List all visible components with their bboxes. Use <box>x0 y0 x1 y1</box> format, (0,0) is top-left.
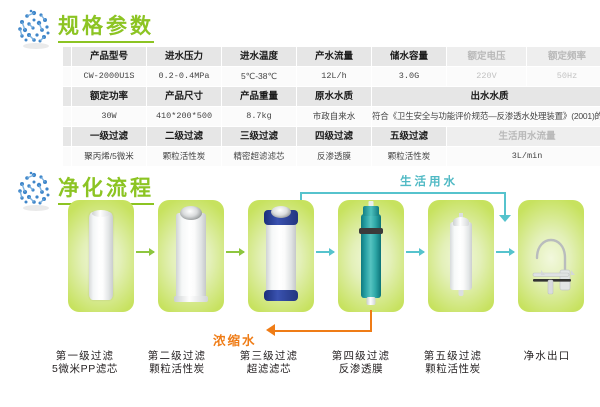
cell-weight-value: 8.7kg <box>222 107 297 127</box>
cell-temp-label: 进水温度 <box>222 47 297 67</box>
arrow-5-6 <box>496 251 514 253</box>
cell-rawwater-value: 市政自来水 <box>297 107 372 127</box>
table-row: 30W 410*200*500 8.7kg 市政自来水 符合《卫生安全与功能评价… <box>63 107 600 127</box>
cell-filter4-value: 反渗透膜 <box>297 147 372 167</box>
table-row: 产品型号 进水压力 进水温度 产水流量 储水容量 额定电压 额定频率 <box>63 47 600 67</box>
pp-cartridge-icon <box>89 212 113 300</box>
cell-voltage-value: 220V <box>447 67 527 87</box>
arrow-4-5 <box>406 251 424 253</box>
domestic-water-pipe-horizontal <box>300 192 506 194</box>
table-row: CW-2000U1S 0.2-0.4MPa 5℃-38℃ 12L/h 3.0G … <box>63 67 600 87</box>
cell-filter3-value: 精密超滤滤芯 <box>222 147 297 167</box>
table-row: 一级过滤 二级过滤 三级过滤 四级过滤 五级过滤 生活用水流量 <box>63 127 600 147</box>
cell-power-value: 30W <box>72 107 147 127</box>
table-row: 额定功率 产品尺寸 产品重量 原水水质 出水水质 <box>63 87 600 107</box>
concentrate-arrowhead <box>266 324 275 336</box>
cell-pressure-label: 进水压力 <box>147 47 222 67</box>
cell-capacity-label: 储水容量 <box>372 47 447 67</box>
cell-capacity-value: 3.0G <box>372 67 447 87</box>
spec-section-title: 规格参数 <box>58 15 154 42</box>
purification-flow-diagram: 生活用水 <box>0 165 600 407</box>
cell-filter2-value: 颗粒活性炭 <box>147 147 222 167</box>
cell-filter5-value: 颗粒活性炭 <box>372 147 447 167</box>
post-carbon-icon <box>450 222 472 290</box>
concentrate-water-label: 浓缩水 <box>213 330 257 349</box>
cell-flow-label: 产水流量 <box>297 47 372 67</box>
cell-pressure-value: 0.2-0.4MPa <box>147 67 222 87</box>
cell-filter3-label: 三级过滤 <box>222 127 297 147</box>
flow-stage-4[interactable] <box>338 200 404 312</box>
domestic-water-label: 生活用水 <box>400 173 458 189</box>
faucet-icon <box>527 218 575 296</box>
arrow-1-2 <box>136 251 154 253</box>
cell-filter4-label: 四级过滤 <box>297 127 372 147</box>
caption-stage-6: 净水出口 <box>492 350 600 363</box>
cell-outwater-value: 符合《卫生安全与功能评价规范—反渗透水处理装置》(2001)的要求 <box>372 107 600 127</box>
arrow-3-4 <box>316 251 334 253</box>
cell-flow-value: 12L/h <box>297 67 372 87</box>
cell-frequency-value: 50Hz <box>527 67 600 87</box>
cell-size-label: 产品尺寸 <box>147 87 222 107</box>
flow-stage-5[interactable] <box>428 200 494 312</box>
cell-temp-value: 5℃-38℃ <box>222 67 297 87</box>
cell-weight-label: 产品重量 <box>222 87 297 107</box>
table-row: 聚丙烯/5微米 颗粒活性炭 精密超滤滤芯 反渗透膜 颗粒活性炭 3L/min <box>63 147 600 167</box>
cell-outwater-label: 出水水质 <box>372 87 600 107</box>
flow-stage-6[interactable] <box>518 200 584 312</box>
ultrafilter-cartridge-icon <box>266 214 296 298</box>
flow-stage-3[interactable] <box>248 200 314 312</box>
cell-voltage-label: 额定电压 <box>447 47 527 67</box>
flow-stage-2[interactable] <box>158 200 224 312</box>
domestic-water-arrowhead <box>499 215 511 222</box>
cell-domesticflow-label: 生活用水流量 <box>447 127 600 147</box>
cell-filter5-label: 五级过滤 <box>372 127 447 147</box>
cell-frequency-label: 额定频率 <box>527 47 600 67</box>
cell-model-label: 产品型号 <box>72 47 147 67</box>
cell-model-value: CW-2000U1S <box>72 67 147 87</box>
molecule-icon <box>12 6 58 52</box>
concentrate-pipe-horizontal <box>275 330 372 332</box>
cell-power-label: 额定功率 <box>72 87 147 107</box>
spec-table: 产品型号 进水压力 进水温度 产水流量 储水容量 额定电压 额定频率 CW-20… <box>62 46 600 167</box>
carbon-cartridge-icon <box>176 213 206 299</box>
ro-membrane-icon <box>361 214 381 298</box>
cell-rawwater-label: 原水水质 <box>297 87 372 107</box>
cell-filter1-label: 一级过滤 <box>72 127 147 147</box>
arrow-2-3 <box>226 251 244 253</box>
cell-domesticflow-value: 3L/min <box>447 147 600 167</box>
cell-size-value: 410*200*500 <box>147 107 222 127</box>
cell-filter2-label: 二级过滤 <box>147 127 222 147</box>
concentrate-pipe-vertical <box>370 310 372 332</box>
cell-filter1-value: 聚丙烯/5微米 <box>72 147 147 167</box>
flow-stage-1[interactable] <box>68 200 134 312</box>
